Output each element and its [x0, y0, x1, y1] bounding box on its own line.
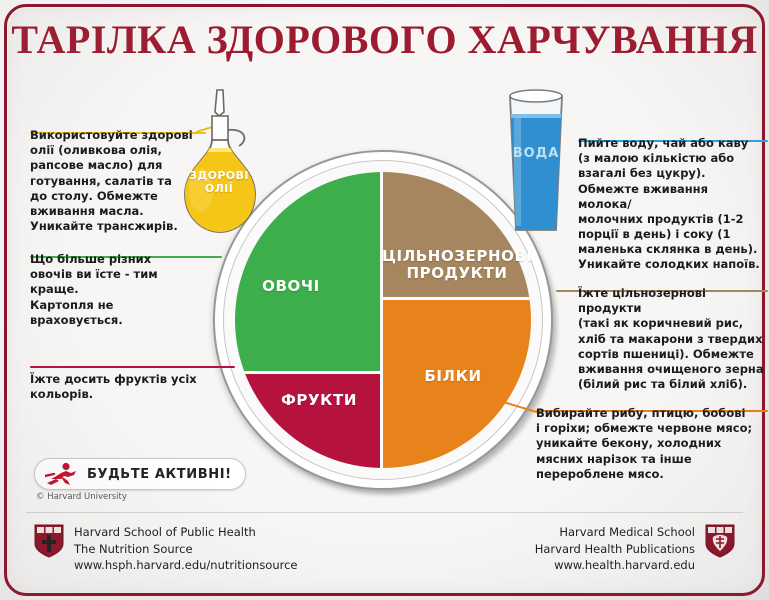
callout-fruits-text: Їжте досить фруктів усіх кольорів. — [30, 372, 216, 402]
callout-grains-text: Їжте цільнозернові продукти (такі як кор… — [578, 286, 764, 392]
footer-left: Harvard School of Public Health The Nutr… — [34, 524, 298, 574]
plate-segment-fruits — [235, 374, 383, 468]
footer-left-lines: Harvard School of Public Health The Nutr… — [74, 524, 298, 574]
footer-left-line3[interactable]: www.hsph.harvard.edu/nutritionsource — [74, 557, 298, 574]
callout-water: Пийте воду, чай або каву (з малою кількі… — [578, 136, 764, 273]
footer-left-line1: Harvard School of Public Health — [74, 524, 298, 541]
footer-divider — [26, 512, 743, 513]
plate-segment-protein — [383, 300, 531, 468]
healthy-eating-plate-poster: ТАРІЛКА ЗДОРОВОГО ХАРЧУВАННЯ — [0, 0, 769, 600]
stay-active-label: БУДЬТЕ АКТИВНІ! — [87, 467, 232, 482]
running-person-icon — [45, 462, 79, 486]
callout-protein: Вибирайте рибу, птицю, бобові і горіхи; … — [536, 406, 764, 482]
stay-active-badge[interactable]: БУДЬТЕ АКТИВНІ! — [34, 458, 246, 490]
callout-healthy-oils: Використовуйте здорові олії (оливкова ол… — [30, 128, 206, 234]
harvard-school-of-public-health-shield-icon — [34, 524, 64, 558]
footer-right-line1: Harvard Medical School — [535, 524, 695, 541]
callout-healthy-oils-text: Використовуйте здорові олії (оливкова ол… — [30, 128, 206, 234]
callout-vegetables-text: Що більше різних овочів ви їсте - тим кр… — [30, 252, 206, 328]
footer-right-lines: Harvard Medical School Harvard Health Pu… — [535, 524, 695, 574]
footer-right-line2: Harvard Health Publications — [535, 541, 695, 558]
water-glass: ВОДА — [500, 86, 572, 238]
callout-water-text: Пийте воду, чай або каву (з малою кількі… — [578, 136, 764, 273]
callout-fruits: Їжте досить фруктів усіх кольорів. — [30, 372, 216, 402]
page-title: ТАРІЛКА ЗДОРОВОГО ХАРЧУВАННЯ — [0, 16, 769, 63]
footer-left-line2: The Nutrition Source — [74, 541, 298, 558]
callout-grains: Їжте цільнозернові продукти (такі як кор… — [578, 286, 764, 392]
callout-vegetables: Що більше різних овочів ви їсте - тим кр… — [30, 252, 206, 328]
footer-right-line3[interactable]: www.health.harvard.edu — [535, 557, 695, 574]
callout-protein-text: Вибирайте рибу, птицю, бобові і горіхи; … — [536, 406, 764, 482]
copyright-text: © Harvard University — [36, 492, 127, 502]
harvard-medical-school-shield-icon — [705, 524, 735, 558]
connector-line-fruits — [30, 366, 235, 368]
footer-right: Harvard Medical School Harvard Health Pu… — [535, 524, 735, 574]
